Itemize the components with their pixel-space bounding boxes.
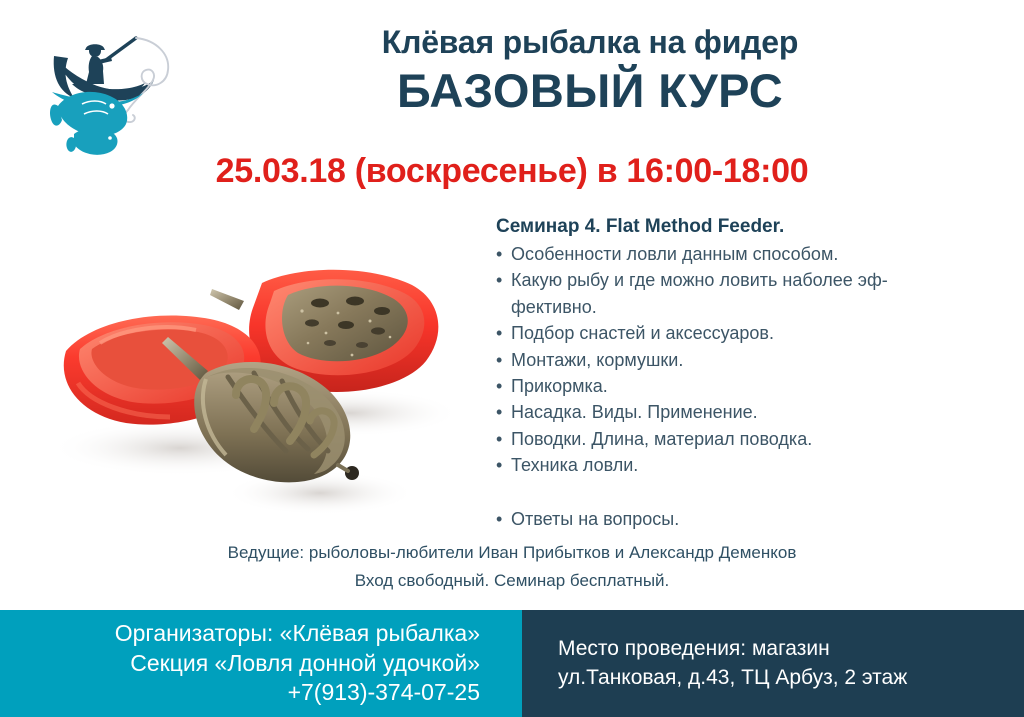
list-item: Подбор снастей и аксессуаров. xyxy=(496,320,916,346)
list-item-questions: Ответы на вопросы. xyxy=(496,506,916,532)
poster-root: Клёвая рыбалка на фидер БАЗОВЫЙ КУРС 25.… xyxy=(0,0,1024,717)
seminar-content: Семинар 4. Flat Method Feeder. Особеннос… xyxy=(496,214,916,533)
organizers-block: Организаторы: «Клёвая рыбалка» Секция «Л… xyxy=(0,610,522,717)
poster-header: Клёвая рыбалка на фидер БАЗОВЫЙ КУРС xyxy=(190,24,990,118)
venue-block: Место проведения: магазин ул.Танковая, д… xyxy=(522,610,1024,717)
phone-number[interactable]: +7(913)-374-07-25 xyxy=(288,678,480,708)
seminar-topics-list: Особенности ловли данным способом. Какую… xyxy=(496,241,916,533)
list-item: Особенности ловли данным способом. xyxy=(496,241,916,267)
list-item: Какую рыбу и где можно ловить наболее эф… xyxy=(496,267,916,320)
section-line: Секция «Ловля донной удочкой» xyxy=(130,649,480,679)
hosts-line: Ведущие: рыболовы-любители Иван Прибытко… xyxy=(0,539,1024,567)
entry-line: Вход свободный. Семинар бесплатный. xyxy=(0,567,1024,595)
poster-title: БАЗОВЫЙ КУРС xyxy=(190,63,990,118)
poster-subtitle: Клёвая рыбалка на фидер xyxy=(190,24,990,61)
list-item: Поводки. Длина, материал поводка. xyxy=(496,426,916,452)
flat-method-feeder-photo xyxy=(30,243,470,543)
organizers-line: Организаторы: «Клёвая рыбалка» xyxy=(115,619,480,649)
poster-footer: Организаторы: «Клёвая рыбалка» Секция «Л… xyxy=(0,610,1024,717)
venue-address-line: ул.Танковая, д.43, ТЦ Арбуз, 2 этаж xyxy=(558,664,907,693)
list-item: Техника ловли. xyxy=(496,452,916,478)
list-item: Монтажи, кормушки. xyxy=(496,347,916,373)
event-notes: Ведущие: рыболовы-любители Иван Прибытко… xyxy=(0,539,1024,594)
event-date-time: 25.03.18 (воскресенье) в 16:00-18:00 xyxy=(0,152,1024,191)
brand-logo xyxy=(48,26,178,166)
venue-label-line: Место проведения: магазин xyxy=(558,635,830,664)
seminar-heading: Семинар 4. Flat Method Feeder. xyxy=(496,214,916,239)
list-item: Прикормка. xyxy=(496,373,916,399)
list-item: Насадка. Виды. Применение. xyxy=(496,399,916,425)
